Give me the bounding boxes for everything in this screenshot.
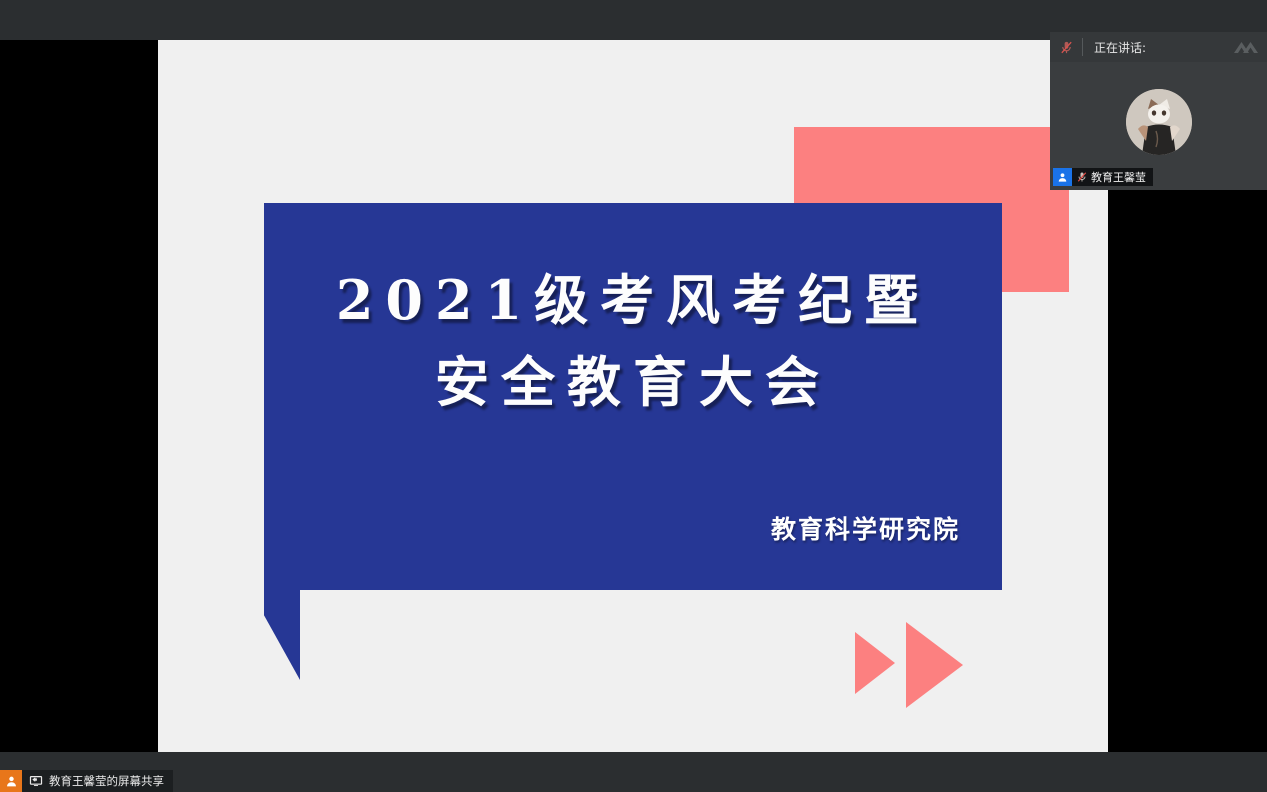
taskbar: 教育王馨莹的屏幕共享 [0,770,173,792]
slide-title: 2021级考风考纪暨 安全教育大会 [264,259,1002,423]
speaking-label: 正在讲话: [1083,39,1146,56]
title-line-2: 安全教育大会 [264,341,1002,423]
screen-root: 2021级考风考纪暨 安全教育大会 教育科学研究院 教育王馨莹的屏幕共享 [0,0,1267,792]
shared-slide: 2021级考风考纪暨 安全教育大会 教育科学研究院 [158,40,1108,752]
screen-share-icon [29,774,43,788]
participant-name: 教育王馨莹 [1091,169,1153,185]
speech-bubble-tail-icon [264,590,300,680]
participant-mic-status [1072,171,1091,183]
collapse-controls[interactable] [1233,40,1259,55]
person-icon [5,775,18,788]
taskbar-app-item[interactable]: 教育王馨莹的屏幕共享 [22,770,173,792]
video-panel-header: 正在讲话: [1050,32,1267,62]
start-button[interactable] [0,770,22,792]
cat-avatar-image [1126,89,1192,155]
participant-person-badge [1053,168,1072,186]
title-card: 2021级考风考纪暨 安全教育大会 教育科学研究院 [264,203,1002,590]
play-arrow-small-icon [855,632,895,694]
play-arrow-large-icon [906,622,963,708]
participant-name-tag: 教育王馨莹 [1053,168,1153,186]
bottom-bar [0,752,1267,792]
video-panel-body: 教育王馨莹 [1050,62,1267,190]
cat-avatar-icon [1126,89,1192,155]
speaking-mic-indicator [1050,32,1082,62]
video-panel[interactable]: 正在讲话: [1050,32,1267,190]
slide-subtitle: 教育科学研究院 [771,510,960,546]
title-line-1: 2021级考风考纪暨 [264,259,1002,341]
microphone-muted-icon [1059,40,1074,55]
chevron-collapse-icon [1233,40,1259,55]
taskbar-app-label: 教育王馨莹的屏幕共享 [49,773,164,789]
person-icon [1057,172,1068,183]
microphone-muted-icon [1076,171,1088,183]
